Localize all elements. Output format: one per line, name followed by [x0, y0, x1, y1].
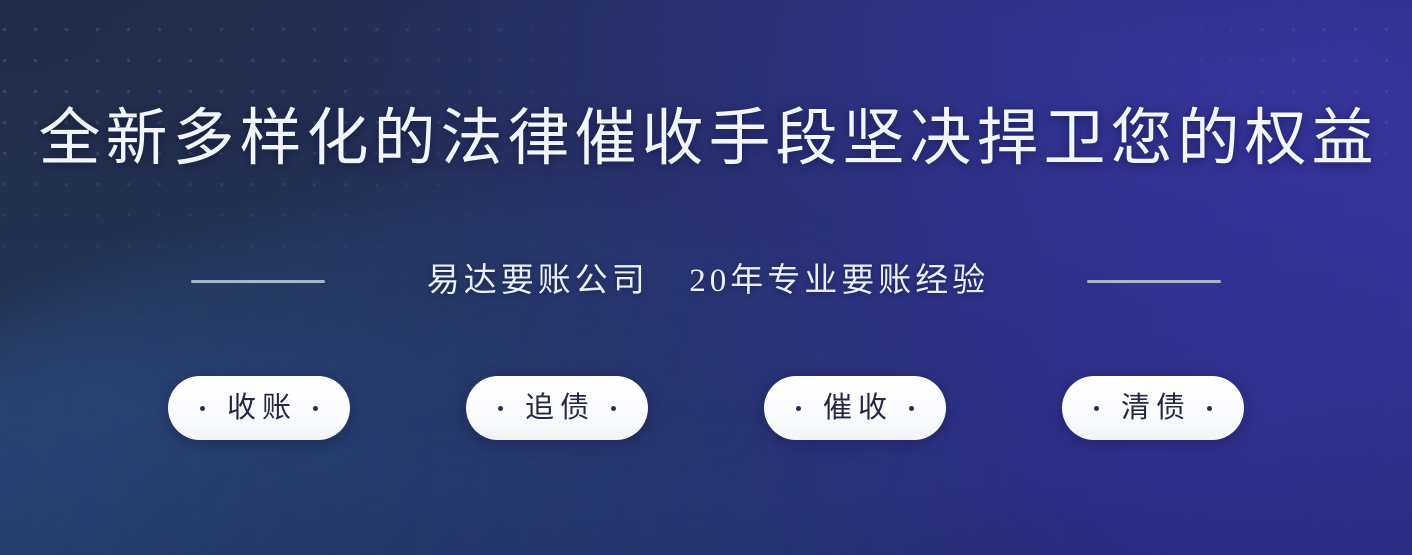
- subtitle-company: 易达要账公司: [427, 263, 649, 299]
- bullet-dot-icon: [796, 406, 801, 411]
- bullet-dot-icon: [313, 406, 318, 411]
- bullet-dot-icon: [1094, 406, 1099, 411]
- bullet-dot-icon: [909, 406, 914, 411]
- bullet-dot-icon: [200, 406, 205, 411]
- service-pill-qingzhai[interactable]: 清债: [1062, 376, 1244, 440]
- service-pill-shouzhang[interactable]: 收账: [168, 376, 350, 440]
- banner-subtitle: 易达要账公司 20年专业要账经验: [423, 265, 990, 298]
- bullet-dot-icon: [1207, 406, 1212, 411]
- bullet-dot-icon: [611, 406, 616, 411]
- service-pill-zhuizhai[interactable]: 追债: [466, 376, 648, 440]
- service-pill-label: 追债: [519, 394, 595, 423]
- decorative-rule-right: [1087, 280, 1221, 283]
- banner-subtitle-row: 易达要账公司 20年专业要账经验: [0, 265, 1412, 298]
- decorative-rule-left: [191, 280, 325, 283]
- service-pill-label: 催收: [817, 394, 893, 423]
- service-pill-label: 清债: [1115, 394, 1191, 423]
- promo-banner: 全新多样化的法律催收手段坚决捍卫您的权益 易达要账公司 20年专业要账经验 收账…: [0, 0, 1412, 555]
- service-pill-cuishou[interactable]: 催收: [764, 376, 946, 440]
- service-pill-group: 收账 追债 催收 清债: [0, 376, 1412, 440]
- service-pill-label: 收账: [221, 394, 297, 423]
- banner-content: 全新多样化的法律催收手段坚决捍卫您的权益 易达要账公司 20年专业要账经验 收账…: [0, 0, 1412, 555]
- banner-headline: 全新多样化的法律催收手段坚决捍卫您的权益: [0, 108, 1412, 170]
- bullet-dot-icon: [498, 406, 503, 411]
- subtitle-experience: 20年专业要账经验: [689, 263, 989, 299]
